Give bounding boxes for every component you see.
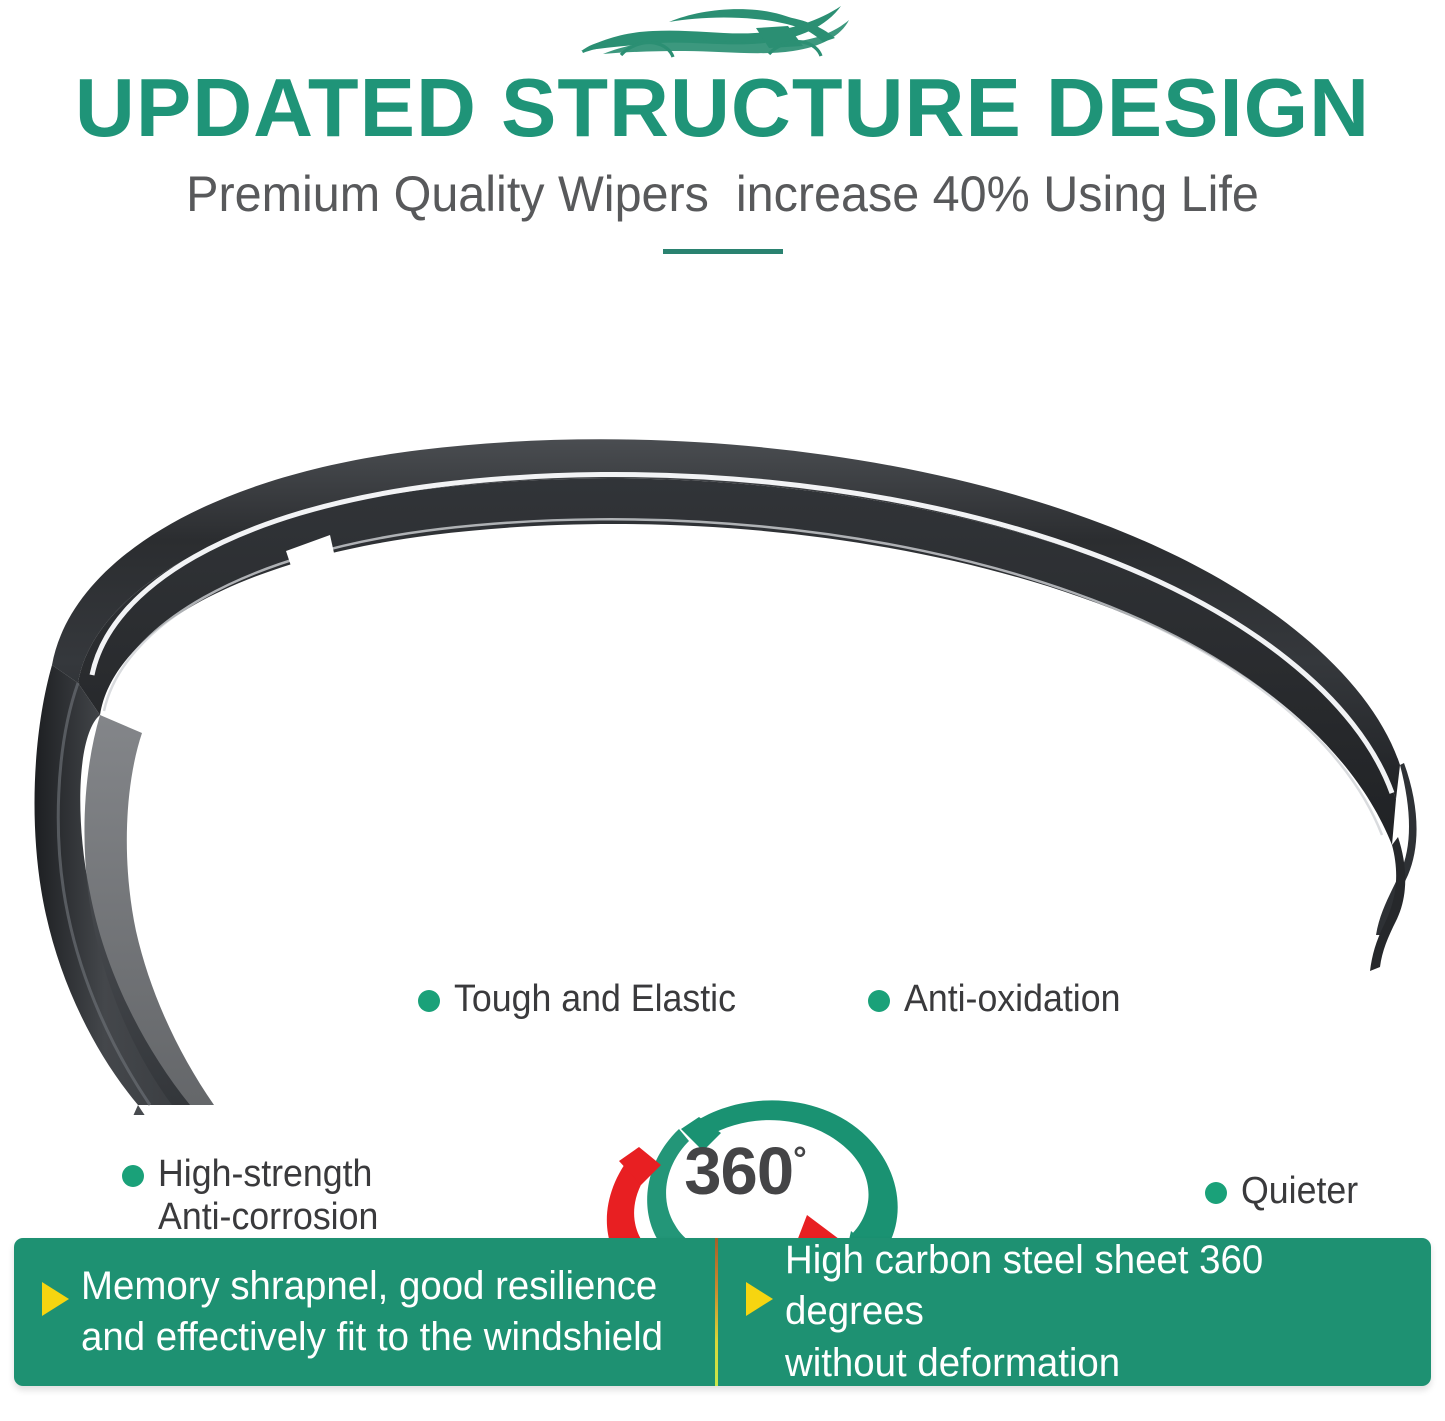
bottom-banner-row: Memory shrapnel, good resilience and eff… [14,1238,1431,1386]
feature-label: High-strength Anti-corrosion [158,1153,378,1238]
banner-text: Memory shrapnel, good resilience and eff… [81,1261,663,1363]
product-stage: Tough and Elastic Anti-oxidation High-st… [0,415,1445,1115]
banner-memory-shrapnel: Memory shrapnel, good resilience and eff… [14,1238,715,1386]
feature-quieter: Quieter [1205,1170,1366,1213]
car-silhouette-icon [573,2,873,62]
strip-upper-inner [78,478,1396,845]
feature-label: Tough and Elastic [454,978,736,1021]
feature-high-strength: High-strength Anti-corrosion [122,1153,392,1238]
feature-label: Quieter [1241,1170,1358,1213]
bullet-dot-icon [1205,1182,1227,1204]
feature-anti-oxidation: Anti-oxidation [868,978,1134,1021]
banner-text: High carbon steel sheet 360 degrees with… [785,1238,1381,1386]
feature-label: Anti-oxidation [904,978,1120,1021]
product-infographic-page: UPDATED STRUCTURE DESIGN Premium Quality… [0,0,1445,1421]
360-label: 360° [575,1133,915,1210]
degree-symbol: ° [793,1141,806,1179]
page-subtitle: Premium Quality Wipers increase 40% Usin… [22,165,1424,223]
strip-notch-2 [300,579,344,613]
360-number: 360 [684,1134,793,1209]
triangle-right-icon [42,1282,69,1316]
bullet-dot-icon [122,1165,144,1187]
title-divider [663,249,783,254]
page-title: UPDATED STRUCTURE DESIGN [0,66,1445,151]
banner-high-carbon-steel: High carbon steel sheet 360 degrees with… [718,1238,1431,1386]
bullet-dot-icon [868,990,890,1012]
header: UPDATED STRUCTURE DESIGN Premium Quality… [0,0,1445,254]
feature-tough-and-elastic: Tough and Elastic [418,978,754,1021]
bullet-dot-icon [418,990,440,1012]
triangle-right-icon [746,1282,773,1316]
